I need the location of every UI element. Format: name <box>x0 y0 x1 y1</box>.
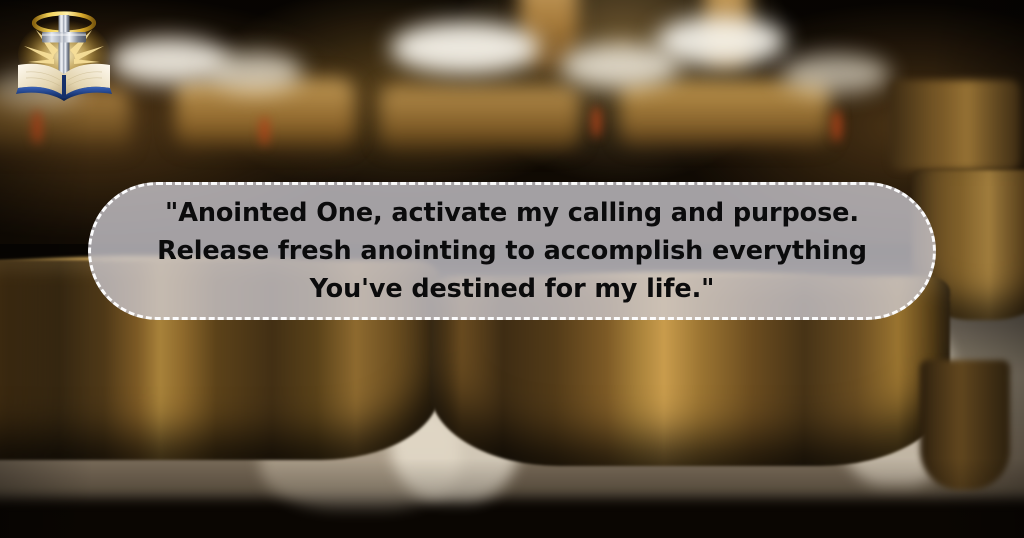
screenshot-canvas: "Anointed One, activate my calling and p… <box>0 0 1024 538</box>
quote-text: "Anointed One, activate my calling and p… <box>125 194 899 308</box>
bible-cross-logo <box>8 2 120 102</box>
quote-overlay-box: "Anointed One, activate my calling and p… <box>88 182 936 320</box>
